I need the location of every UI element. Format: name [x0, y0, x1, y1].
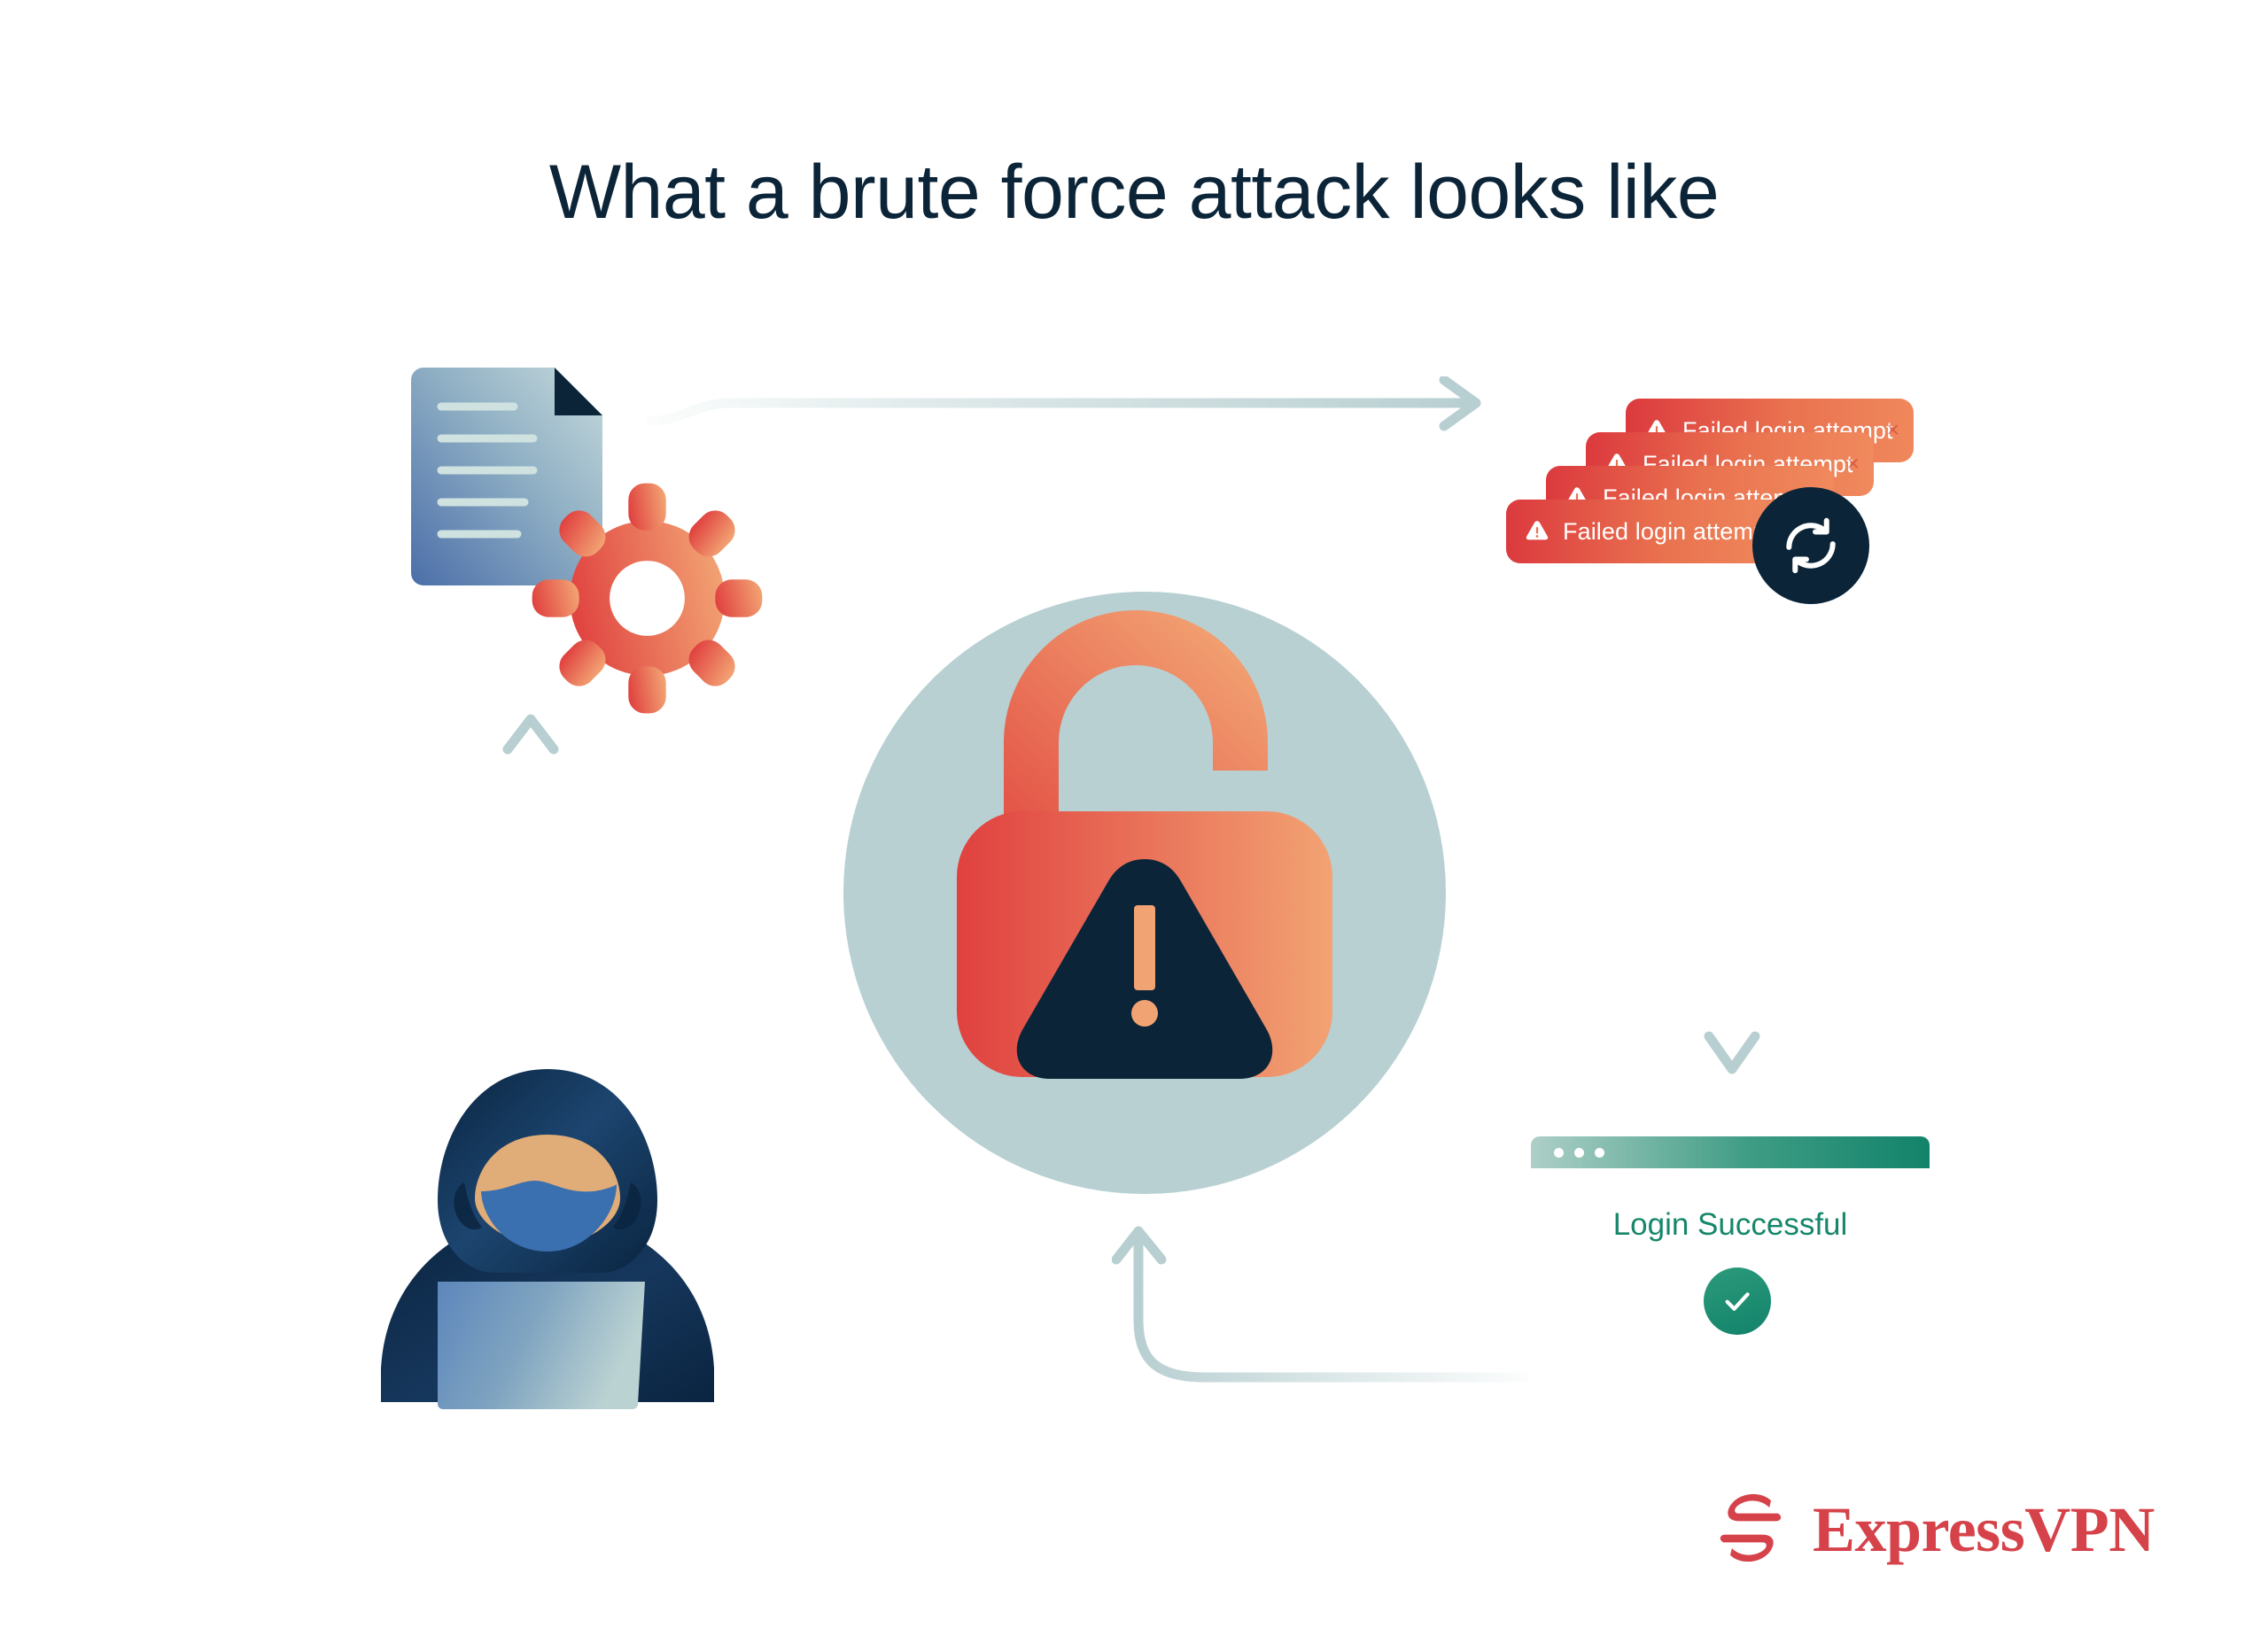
window-dot	[1574, 1148, 1584, 1158]
expressvpn-logo: ExpressVPN	[1708, 1481, 2124, 1578]
expressvpn-wordmark: ExpressVPN	[1813, 1498, 2155, 1562]
refresh-icon-badge[interactable]	[1752, 487, 1869, 604]
arrow-document-to-attempts	[647, 376, 1497, 456]
gear-icon	[530, 481, 765, 716]
check-icon	[1719, 1283, 1756, 1320]
arrow-attempts-to-success	[1692, 633, 1798, 1081]
refresh-icon	[1777, 512, 1845, 579]
page-title: What a brute force attack looks like	[0, 149, 2268, 236]
window-dot	[1595, 1148, 1604, 1158]
expressvpn-logo-mark	[1708, 1485, 1793, 1575]
check-circle-icon	[1704, 1267, 1771, 1335]
failed-login-card-stack: Failed login attempt × Failed login atte…	[1506, 399, 1914, 620]
close-icon[interactable]: ×	[1846, 453, 1860, 476]
failed-login-label: Failed login attempt	[1563, 518, 1774, 546]
login-success-message: Login Successful	[1531, 1207, 1930, 1243]
warning-triangle-icon	[1524, 518, 1550, 545]
login-success-panel: Login Successful	[1531, 1136, 1930, 1393]
target-lock-node	[843, 592, 1446, 1194]
infographic-canvas: What a brute force attack looks like	[0, 0, 2268, 1651]
window-dot	[1554, 1148, 1564, 1158]
failed-login-card[interactable]: Failed login attempt ×	[1506, 500, 1794, 563]
close-icon[interactable]: ×	[1886, 420, 1899, 442]
arrow-attacker-to-document	[492, 709, 598, 1014]
credential-list-node	[399, 368, 771, 713]
browser-bar	[1531, 1136, 1930, 1168]
hacker-figure	[361, 1050, 734, 1439]
arrow-success-to-lock	[1112, 1222, 1528, 1417]
